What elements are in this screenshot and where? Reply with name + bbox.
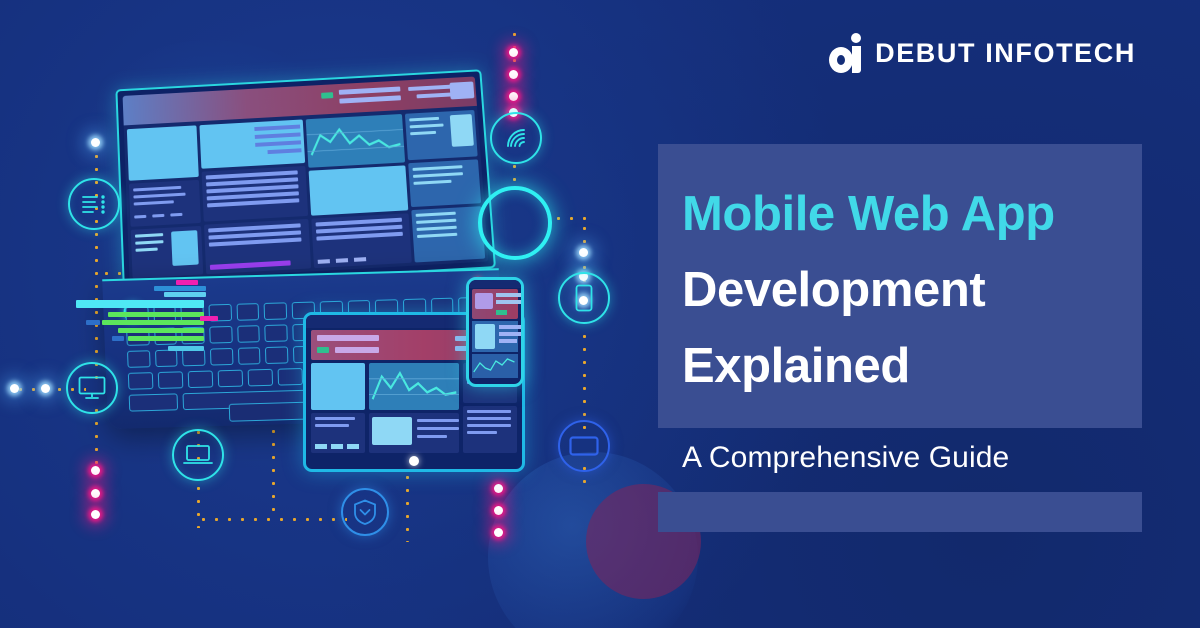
connector-line — [583, 330, 586, 430]
shield-check-icon[interactable] — [341, 488, 389, 536]
glow-dot — [10, 384, 19, 393]
glow-dot — [41, 384, 50, 393]
connector-line — [552, 217, 590, 220]
laptop-glyph — [183, 444, 213, 466]
phone-card — [472, 321, 518, 352]
line-chart-icon — [369, 363, 460, 410]
glow-dot — [509, 92, 518, 101]
banner-canvas: Mobile Web App Development Explained A C… — [0, 0, 1200, 628]
line-chart-icon — [472, 354, 518, 378]
smartphone-icon[interactable] — [558, 272, 610, 324]
glow-dot — [494, 528, 503, 537]
connector-line — [197, 518, 347, 521]
empty-ring-icon[interactable] — [478, 186, 552, 260]
connector-line — [197, 482, 200, 528]
brand-logo[interactable]: DEBUT INFOTECH — [829, 33, 1136, 73]
glow-dot — [579, 248, 588, 257]
glow-dot — [494, 484, 503, 493]
phone-statusbar — [469, 280, 521, 288]
line-chart-icon — [306, 114, 406, 167]
headline-line-2: Development — [682, 252, 1152, 328]
accent-panel — [658, 492, 1142, 532]
glow-dot — [91, 138, 100, 147]
smartphone-device — [466, 277, 524, 387]
debut-d-monogram-icon — [829, 33, 862, 73]
wifi-signal-icon[interactable] — [490, 112, 542, 164]
list-menu-icon[interactable] — [68, 178, 120, 230]
laptop-icon[interactable] — [172, 429, 224, 481]
dashboard-grid — [124, 107, 489, 282]
glow-dot — [494, 506, 503, 515]
connector-line — [513, 160, 516, 188]
data-stream-glitch — [68, 282, 213, 367]
glow-dot — [91, 466, 100, 475]
desktop-monitor-icon[interactable] — [66, 362, 118, 414]
headline-line-1: Mobile Web App — [682, 176, 1152, 252]
headline-line-3: Explained — [682, 328, 1152, 404]
brand-logo-text: DEBUT INFOTECH — [875, 38, 1136, 69]
card-glyph — [569, 436, 599, 456]
glow-dot — [509, 70, 518, 79]
connector-line — [95, 404, 98, 474]
wifi-glyph — [502, 125, 530, 151]
laptop-lid — [115, 69, 496, 289]
decorative-blue-circle — [488, 452, 698, 628]
laptop-screen — [123, 76, 489, 281]
glow-dot — [91, 510, 100, 519]
tablet-home-button — [409, 456, 419, 466]
phone-chart-card — [472, 354, 518, 378]
phone-glyph — [575, 284, 593, 312]
page-subtitle: A Comprehensive Guide — [682, 441, 1009, 475]
screen-card-icon[interactable] — [558, 420, 610, 472]
shield-glyph — [353, 499, 377, 525]
list-glyph — [81, 194, 107, 214]
glow-dot — [509, 48, 518, 57]
monitor-glyph — [78, 376, 106, 400]
glow-dot — [91, 489, 100, 498]
phone-header-bar — [472, 289, 518, 319]
page-title: Mobile Web App Development Explained — [682, 176, 1152, 404]
